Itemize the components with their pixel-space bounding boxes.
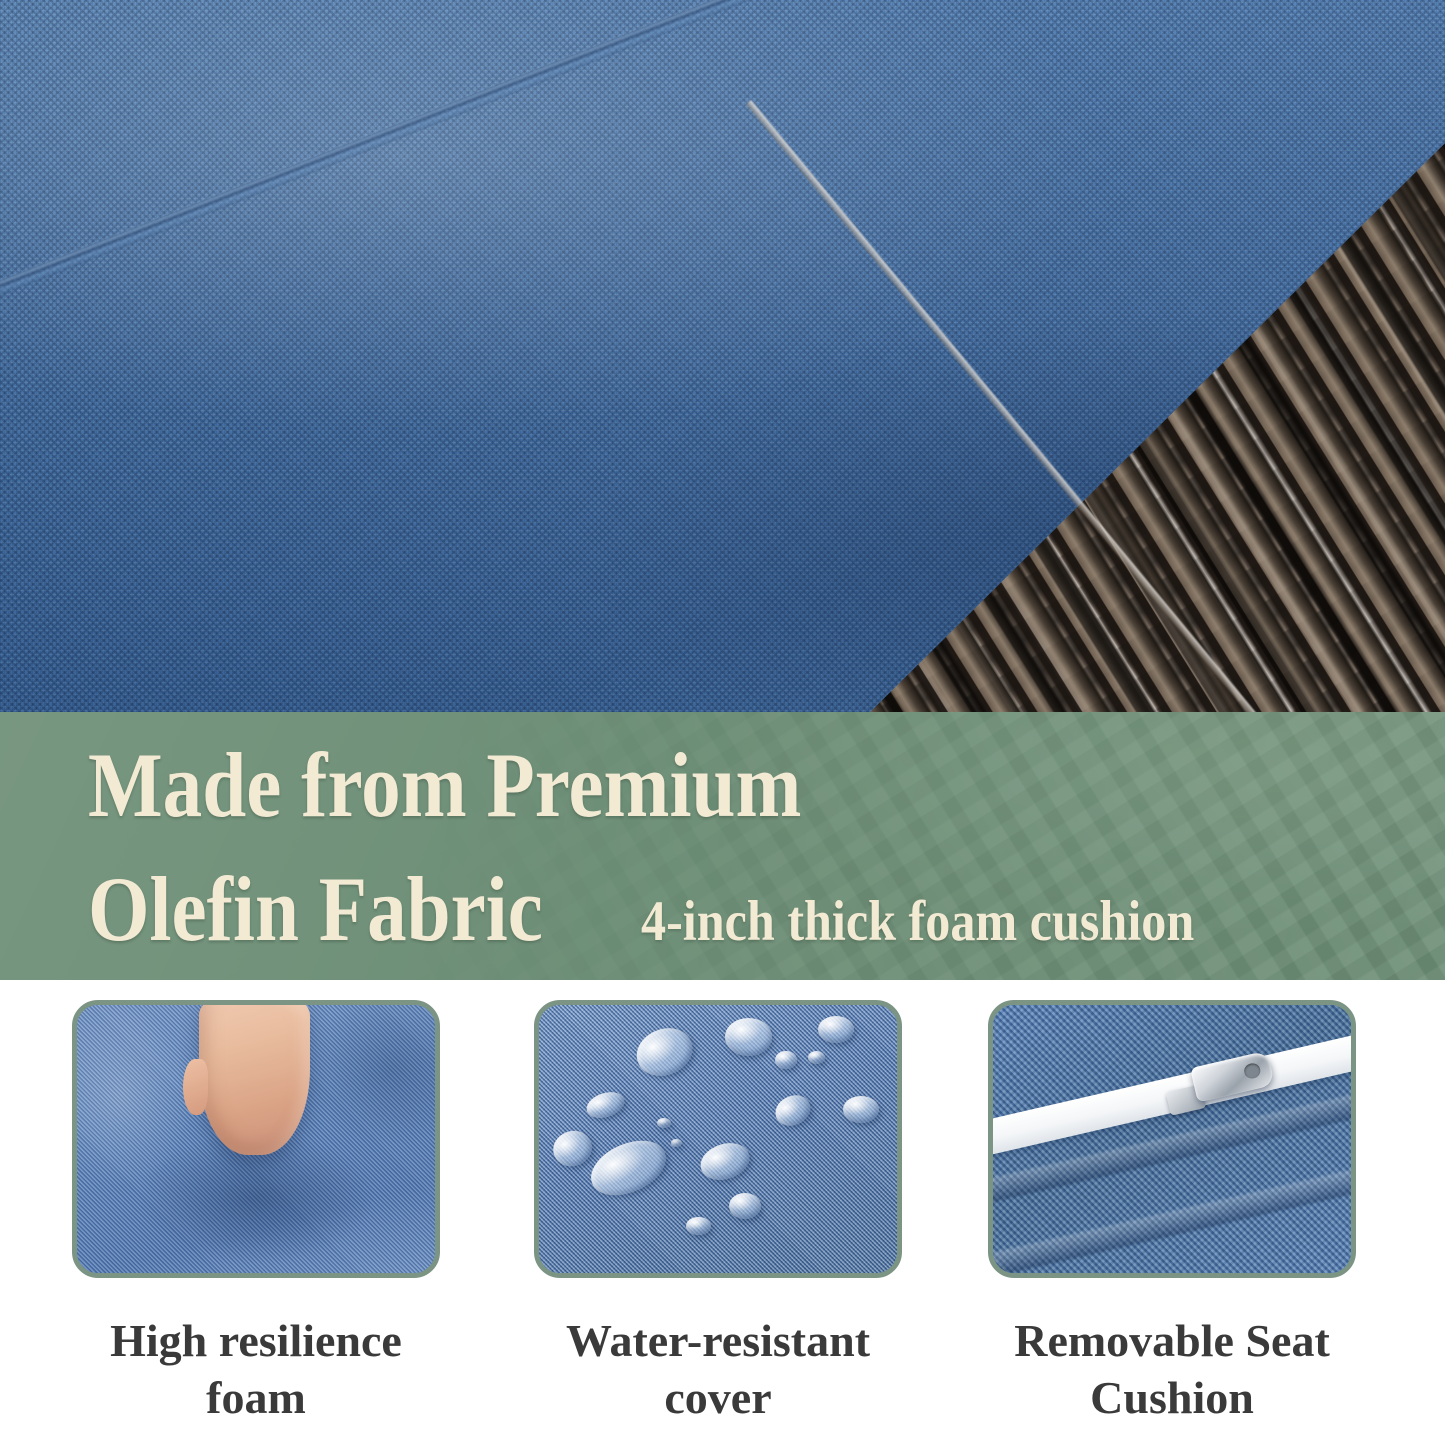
water-droplets-image <box>539 1005 897 1273</box>
feature-card-row: High resilience foam <box>0 1000 1445 1445</box>
water-drop-icon <box>725 1018 772 1056</box>
zipper-image <box>993 1005 1351 1273</box>
water-drop-icon <box>671 1139 682 1147</box>
water-drop-icon <box>808 1051 826 1064</box>
product-feature-page: Made from Premium Olefin Fabric 4-inch t… <box>0 0 1445 1445</box>
headline-line-2-group: Olefin Fabric 4-inch thick foam cushion <box>88 860 1270 959</box>
feature-card-high-resilience-foam: High resilience foam <box>72 1000 440 1426</box>
water-drop-icon <box>549 1125 598 1171</box>
water-drop-icon <box>657 1118 671 1129</box>
water-drop-icon <box>686 1217 711 1236</box>
water-drop-icon <box>818 1016 854 1043</box>
water-drop-icon <box>843 1096 879 1123</box>
cushion-hero-photo <box>0 0 1445 715</box>
hand-icon <box>199 1000 310 1155</box>
water-drop-icon <box>771 1090 816 1132</box>
water-drop-icon <box>583 1130 675 1206</box>
water-drop-icon <box>775 1051 796 1070</box>
zipper-pull-icon <box>1191 1050 1276 1102</box>
banner-text-group: Made from Premium Olefin Fabric 4-inch t… <box>0 712 1445 980</box>
feature-caption-water: Water-resistant cover <box>534 1312 902 1426</box>
feature-caption-zipper: Removable Seat Cushion <box>988 1312 1356 1426</box>
water-drop-icon <box>629 1020 699 1084</box>
headline-line-2: Olefin Fabric <box>88 860 543 959</box>
feature-thumbnail-foam <box>72 1000 440 1278</box>
feature-caption-foam: High resilience foam <box>72 1312 440 1426</box>
water-drop-icon <box>583 1088 628 1123</box>
promo-banner: Made from Premium Olefin Fabric 4-inch t… <box>0 712 1445 980</box>
water-drop-icon <box>696 1137 754 1186</box>
water-drop-icon <box>729 1193 761 1220</box>
feature-thumbnail-water <box>534 1000 902 1278</box>
foam-press-image <box>77 1005 435 1273</box>
subheadline: 4-inch thick foam cushion <box>641 891 1194 953</box>
headline-line-1: Made from Premium <box>88 736 801 835</box>
feature-thumbnail-zipper <box>988 1000 1356 1278</box>
feature-card-water-resistant-cover: Water-resistant cover <box>534 1000 902 1426</box>
feature-card-removable-seat-cushion: Removable Seat Cushion <box>988 1000 1356 1426</box>
